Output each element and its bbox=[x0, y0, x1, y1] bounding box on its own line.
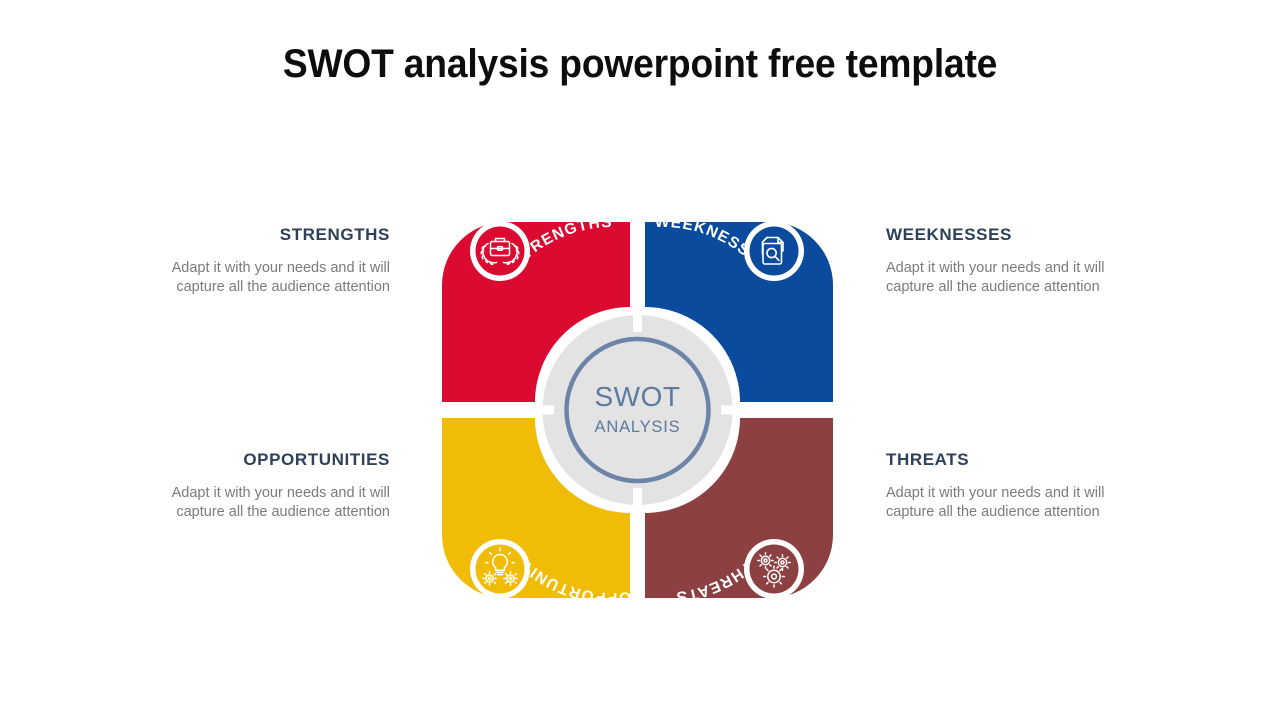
quadrant-description-opportunities: Adapt it with your needs and it will cap… bbox=[128, 484, 390, 523]
quadrant-heading-threats: THREATS bbox=[886, 451, 1148, 470]
icon-badge-weaknesses[interactable] bbox=[744, 221, 804, 281]
center-title: SWOT bbox=[595, 381, 681, 412]
page-title: SWOT analysis powerpoint free template bbox=[45, 42, 1235, 87]
quadrant-text-threats: THREATS Adapt it with your needs and it … bbox=[886, 451, 1148, 523]
quadrant-text-weaknesses: WEEKNESSES Adapt it with your needs and … bbox=[886, 226, 1148, 298]
icon-badge-threats[interactable] bbox=[744, 539, 804, 599]
swot-diagram: STRENGTHS WEEKNESSES OPPORTUNITIES THREA… bbox=[430, 210, 845, 610]
quadrant-description-weaknesses: Adapt it with your needs and it will cap… bbox=[886, 259, 1148, 298]
divider-vertical-bottom bbox=[633, 488, 642, 598]
quadrant-description-threats: Adapt it with your needs and it will cap… bbox=[886, 484, 1148, 523]
divider-horizontal-left bbox=[442, 406, 554, 415]
divider-horizontal-right bbox=[721, 406, 833, 415]
divider-vertical-top bbox=[633, 222, 642, 332]
center-subtitle: ANALYSIS bbox=[595, 418, 681, 436]
quadrant-description-strengths: Adapt it with your needs and it will cap… bbox=[128, 259, 390, 298]
quadrant-heading-strengths: STRENGTHS bbox=[128, 226, 390, 245]
icon-badge-strengths[interactable] bbox=[470, 221, 530, 281]
quadrant-text-strengths: STRENGTHS Adapt it with your needs and i… bbox=[128, 226, 390, 298]
quadrant-heading-weaknesses: WEEKNESSES bbox=[886, 226, 1148, 245]
quadrant-heading-opportunities: OPPORTUNITIES bbox=[128, 451, 390, 470]
quadrant-text-opportunities: OPPORTUNITIES Adapt it with your needs a… bbox=[128, 451, 390, 523]
icon-badge-opportunities[interactable] bbox=[470, 539, 530, 599]
